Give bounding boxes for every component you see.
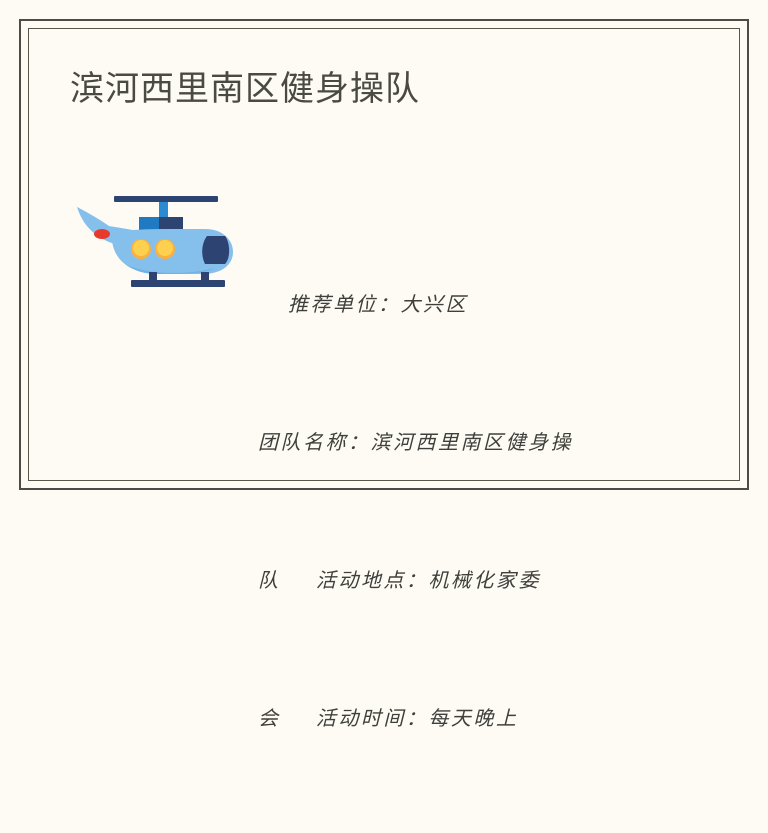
rotor-blade-icon [114, 196, 218, 202]
tail-light-icon [94, 229, 110, 239]
window-rear-highlight-icon [133, 240, 149, 256]
windshield-icon [202, 236, 229, 264]
info-card-inner-border: 滨河西里南区健身操队 [28, 28, 740, 481]
landing-skid-icon [131, 280, 225, 287]
info-line-activity-place: 队 活动地点：机械化家委 [258, 557, 688, 603]
info-line-team-name: 团队名称：滨河西里南区健身操 [258, 419, 688, 465]
helicopter-svg [65, 164, 245, 289]
helicopter-illustration [65, 164, 245, 289]
info-line-recommending-unit: 推荐单位：大兴区 [258, 281, 688, 327]
window-front-highlight-icon [157, 240, 173, 256]
info-card: 滨河西里南区健身操队 [19, 19, 749, 490]
team-info-block: 推荐单位：大兴区 团队名称：滨河西里南区健身操 队 活动地点：机械化家委 会 活… [258, 189, 688, 833]
page-title: 滨河西里南区健身操队 [70, 67, 420, 111]
info-line-activity-time: 会 活动时间：每天晚上 [258, 695, 688, 741]
